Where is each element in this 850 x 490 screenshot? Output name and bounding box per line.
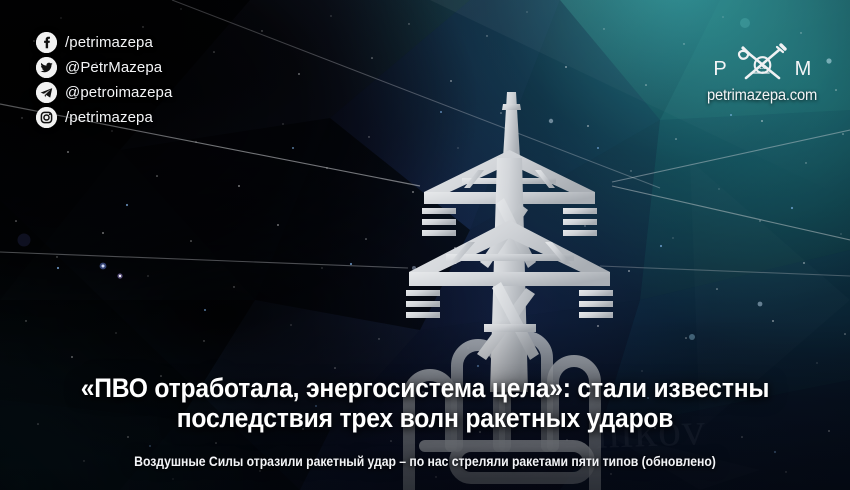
logo-url-text: petrimazepa.com — [701, 87, 823, 105]
instagram-icon — [36, 107, 57, 128]
headline-line-1: «ПВО отработала, энергосистема цела»: ст… — [81, 373, 770, 403]
page-subtitle: Воздушные Силы отразили ракетный удар – … — [43, 454, 808, 469]
headline-line-2: последствия трех волн ракетных ударов — [54, 403, 796, 433]
social-handle-instagram: /petrimazepa — [65, 109, 153, 126]
crossed-sabers-icon: P M & — [698, 42, 826, 86]
social-handle-telegram: @petroimazepa — [65, 84, 172, 101]
social-row-facebook[interactable]: /petrimazepa — [36, 31, 172, 53]
social-handle-twitter: @PetrMazepa — [65, 59, 162, 76]
page-title: «ПВО отработала, энергосистема цела»: ст… — [30, 373, 821, 433]
social-handle-facebook: /petrimazepa — [65, 34, 153, 51]
social-row-instagram[interactable]: /petrimazepa — [36, 106, 172, 128]
social-row-twitter[interactable]: @PetrMazepa — [36, 56, 172, 78]
svg-text:M: M — [795, 58, 812, 80]
telegram-icon — [36, 82, 57, 103]
social-row-telegram[interactable]: @petroimazepa — [36, 81, 172, 103]
svg-text:P: P — [713, 58, 726, 80]
brand-logo[interactable]: P M & petri — [698, 42, 826, 105]
social-share-card: nikov — [0, 0, 850, 490]
facebook-icon — [36, 32, 57, 53]
twitter-icon — [36, 57, 57, 78]
social-links-block: /petrimazepa @PetrMazepa @petroimazepa — [36, 31, 172, 128]
svg-text:&: & — [759, 61, 766, 71]
